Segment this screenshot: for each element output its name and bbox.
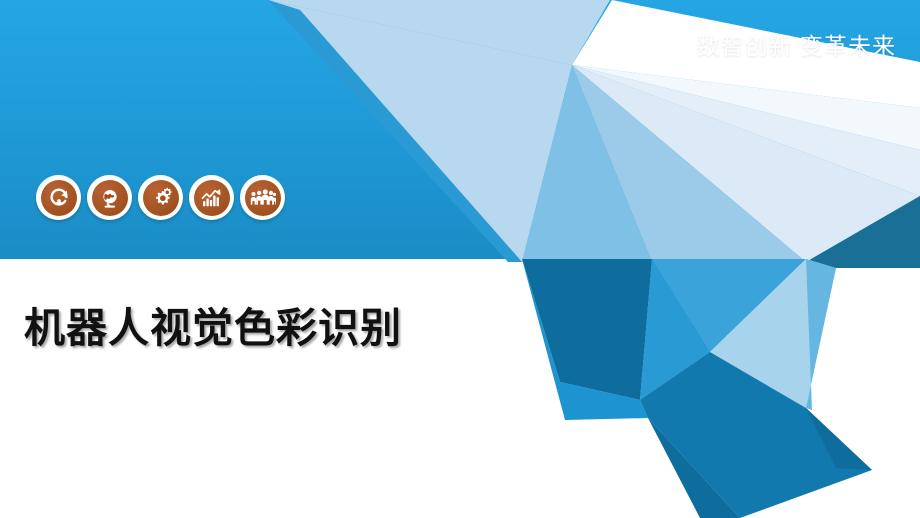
low-poly-artwork	[0, 0, 920, 518]
icon-badge-globe[interactable]	[87, 175, 132, 220]
icon-disc	[92, 180, 128, 216]
icon-badge-row	[36, 175, 285, 220]
presentation-slide: 数智创新 变革未来	[0, 0, 920, 518]
icon-disc	[41, 180, 77, 216]
icon-disc	[245, 180, 281, 216]
bar-chart-icon	[200, 187, 224, 209]
gears-icon	[149, 186, 173, 210]
icon-badge-refresh[interactable]	[36, 175, 81, 220]
page-title: 机器人视觉色彩识别	[24, 294, 402, 354]
refresh-arrow-icon	[48, 187, 70, 209]
slide-tagline: 数智创新 变革未来	[697, 27, 896, 61]
people-group-icon	[250, 188, 276, 208]
icon-badge-bar-chart[interactable]	[189, 175, 234, 220]
icon-badge-gears[interactable]	[138, 175, 183, 220]
globe-icon	[99, 187, 121, 209]
poly-lower-mid-right	[806, 259, 836, 410]
icon-badge-people[interactable]	[240, 175, 285, 220]
icon-disc	[143, 180, 179, 216]
icon-disc	[194, 180, 230, 216]
